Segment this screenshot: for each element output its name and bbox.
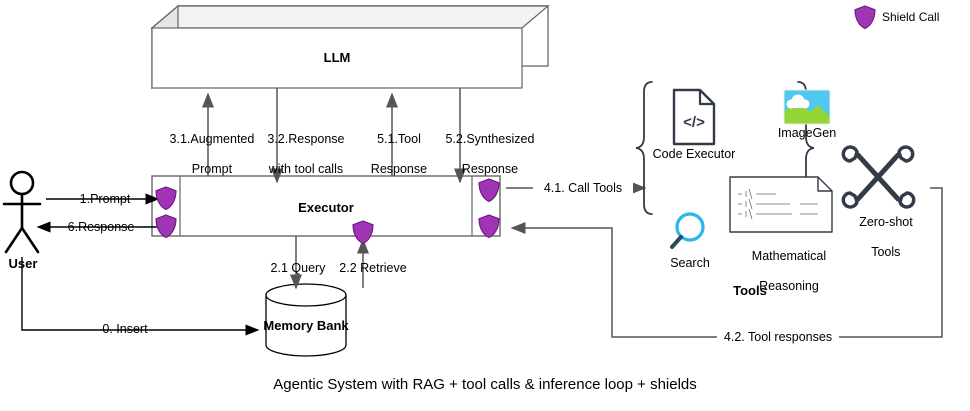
code-document-icon: </> xyxy=(674,90,714,144)
tool-label-search: Search xyxy=(660,256,720,271)
edge-label-response-tool-calls-line1: 3.2.Response xyxy=(267,132,344,146)
edge-label-call-tools: 4.1. Call Tools xyxy=(533,181,633,196)
user-label: User xyxy=(0,256,46,271)
legend-shield-label: Shield Call xyxy=(882,10,939,24)
user-actor xyxy=(4,172,40,252)
shield-icon-legend xyxy=(855,6,875,29)
edge-label-synthesized-response-line1: 5.2.Synthesized xyxy=(445,132,534,146)
edge-label-response: 6.Response xyxy=(50,220,152,235)
tool-label-zero-shot-tools-line1: Zero-shot xyxy=(859,215,913,229)
diagram-canvas: </> xyxy=(0,0,970,411)
formula-document-icon xyxy=(730,177,832,232)
edge-label-tool-response: 5.1.Tool Response xyxy=(348,117,436,192)
svg-text:</>: </> xyxy=(683,114,705,131)
llm-label: LLM xyxy=(152,50,522,65)
edge-label-tool-response-line1: 5.1.Tool xyxy=(377,132,421,146)
tool-label-code-executor: Code Executor xyxy=(646,147,742,162)
insert-connector xyxy=(22,257,258,330)
image-icon xyxy=(784,90,830,124)
edge-label-tool-responses: 4.2. Tool responses xyxy=(717,330,839,345)
edge-label-augmented-prompt-line2: Prompt xyxy=(192,162,232,176)
tool-label-imagegen: ImageGen xyxy=(768,126,846,141)
crossed-wrenches-icon xyxy=(843,147,913,207)
tool-label-mathematical-reasoning-line2: Reasoning xyxy=(759,279,819,293)
edge-label-prompt: 1.Prompt xyxy=(58,192,152,207)
edge-label-synthesized-response: 5.2.Synthesized Response xyxy=(424,117,542,192)
edge-label-tool-response-line2: Response xyxy=(371,162,427,176)
diagram-caption: Agentic System with RAG + tool calls & i… xyxy=(0,376,970,393)
tool-label-mathematical-reasoning-line1: Mathematical xyxy=(752,249,826,263)
executor-label: Executor xyxy=(180,200,472,215)
magnifier-icon xyxy=(672,214,703,247)
edge-label-synthesized-response-line2: Response xyxy=(462,162,518,176)
shield-icon-memory-retrieve xyxy=(353,221,373,244)
memory-bank-label: Memory Bank xyxy=(246,318,366,333)
tool-label-zero-shot-tools: Zero-shot Tools xyxy=(840,200,918,275)
edge-label-insert: 0. Insert xyxy=(70,322,180,337)
edge-label-response-tool-calls-line2: with tool calls xyxy=(269,162,343,176)
edge-label-response-tool-calls: 3.2.Response with tool calls xyxy=(236,117,362,192)
edge-label-query: 2.1 Query xyxy=(258,261,338,276)
tool-label-zero-shot-tools-line2: Tools xyxy=(871,245,900,259)
llm-node xyxy=(152,6,548,88)
tool-label-mathematical-reasoning: Mathematical Reasoning xyxy=(726,234,838,309)
edge-label-retrieve: 2.2 Retrieve xyxy=(330,261,416,276)
